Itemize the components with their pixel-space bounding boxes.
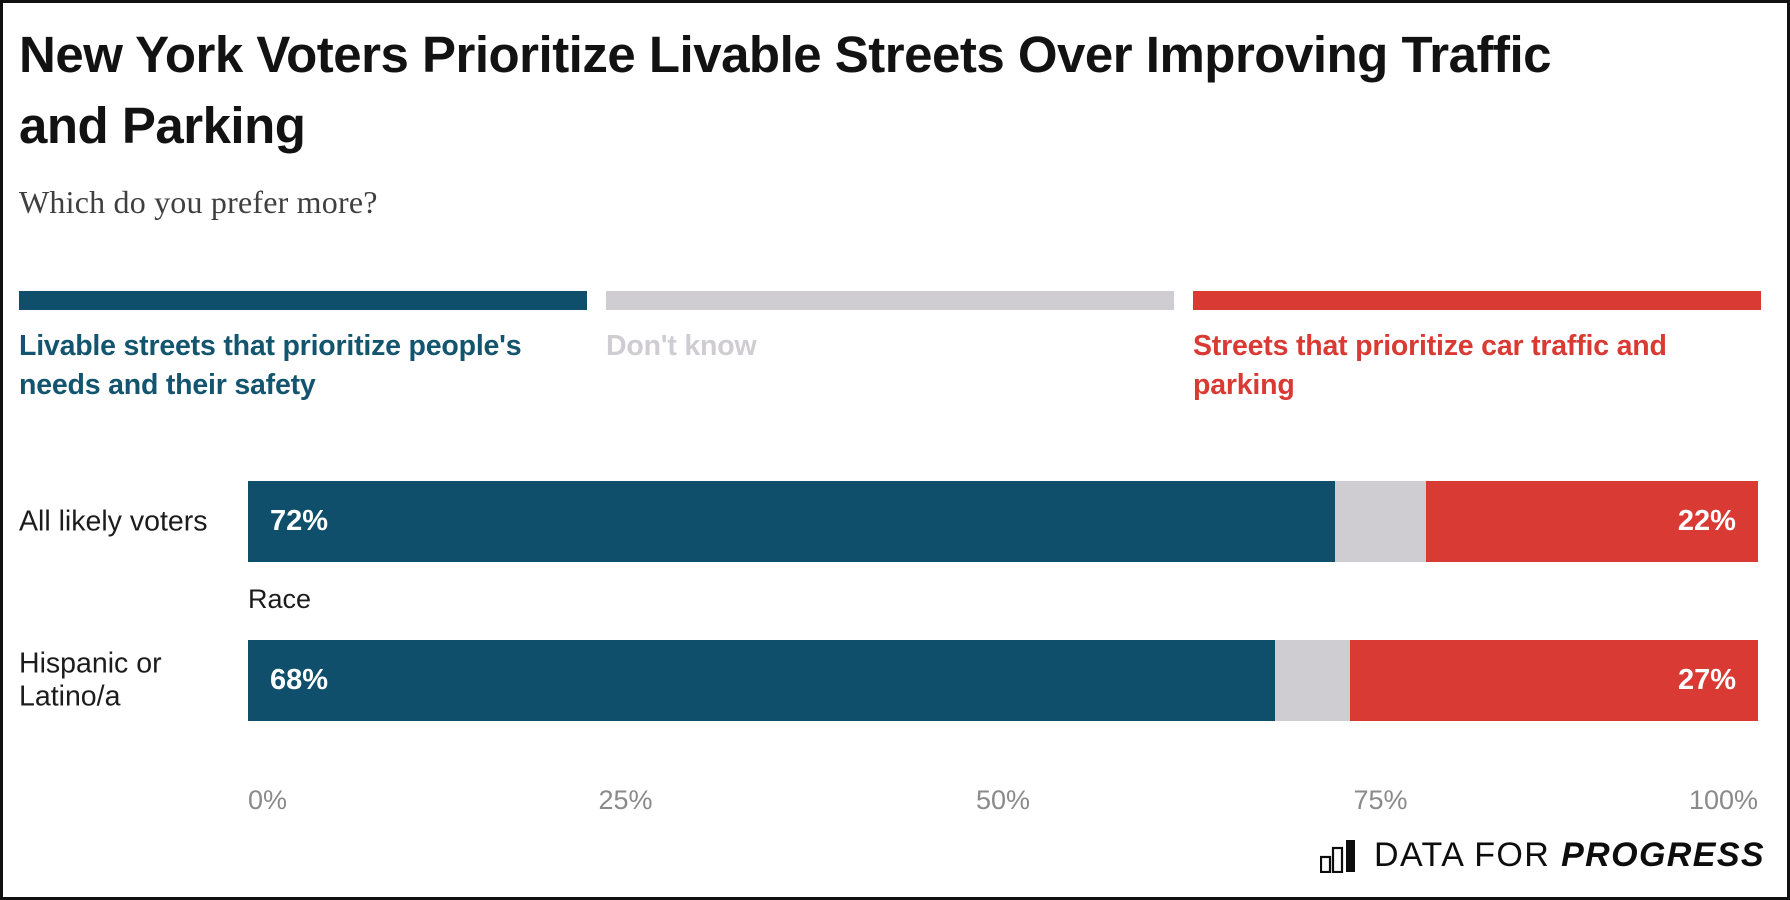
bar-row: Hispanic or Latino/a68%27% xyxy=(3,632,1790,729)
chart-container: New York Voters Prioritize Livable Stree… xyxy=(0,0,1790,900)
stacked-bar: 68%27% xyxy=(248,640,1758,721)
legend-label: Livable streets that prioritize people's… xyxy=(19,327,587,405)
bar-segment: 22% xyxy=(1426,481,1758,562)
bar-value-label: 27% xyxy=(1678,664,1736,697)
legend-swatch xyxy=(19,291,587,310)
legend-label: Don't know xyxy=(606,327,1174,366)
bar-value-label: 72% xyxy=(270,505,328,538)
chart-legend: Livable streets that prioritize people's… xyxy=(19,291,1761,405)
page-title: New York Voters Prioritize Livable Stree… xyxy=(19,19,1559,162)
stacked-bar: 72%22% xyxy=(248,481,1758,562)
legend-swatch xyxy=(1193,291,1761,310)
legend-entry: Don't know xyxy=(606,291,1174,405)
bar-segment xyxy=(1335,481,1426,562)
bar-segment: 72% xyxy=(248,481,1335,562)
axis-tick-label: 0% xyxy=(248,785,287,816)
chart-subtitle: Which do you prefer more? xyxy=(19,184,1771,221)
bar-chart-logo-icon xyxy=(1320,839,1360,873)
axis-tick-label: 100% xyxy=(1689,785,1758,816)
brand-name-part1: DATA FOR xyxy=(1374,836,1561,874)
axis-tick-label: 75% xyxy=(1353,785,1407,816)
bar-row-label: All likely voters xyxy=(19,505,234,538)
brand-name-part2: PROGRESS xyxy=(1561,836,1765,874)
group-header: Race xyxy=(3,570,1790,632)
bar-row-label: Hispanic or Latino/a xyxy=(19,647,234,714)
legend-label: Streets that prioritize car traffic and … xyxy=(1193,327,1761,405)
chart-header: New York Voters Prioritize Livable Stree… xyxy=(19,19,1771,221)
bar-value-label: 22% xyxy=(1678,505,1736,538)
axis-tick-label: 50% xyxy=(976,785,1030,816)
bar-segment xyxy=(1275,640,1351,721)
brand-logo: DATA FOR PROGRESS xyxy=(1320,836,1765,875)
plot-area: All likely voters72%22%RaceHispanic or L… xyxy=(3,473,1790,729)
brand-name: DATA FOR PROGRESS xyxy=(1374,836,1765,875)
x-axis: 0%25%50%75%100% xyxy=(248,785,1758,821)
bar-row: All likely voters72%22% xyxy=(3,473,1790,570)
bar-segment: 27% xyxy=(1350,640,1758,721)
bar-value-label: 68% xyxy=(270,664,328,697)
axis-tick-label: 25% xyxy=(598,785,652,816)
group-header-label: Race xyxy=(248,584,311,615)
legend-entry: Livable streets that prioritize people's… xyxy=(19,291,587,405)
legend-entry: Streets that prioritize car traffic and … xyxy=(1193,291,1761,405)
bar-segment: 68% xyxy=(248,640,1275,721)
legend-swatch xyxy=(606,291,1174,310)
